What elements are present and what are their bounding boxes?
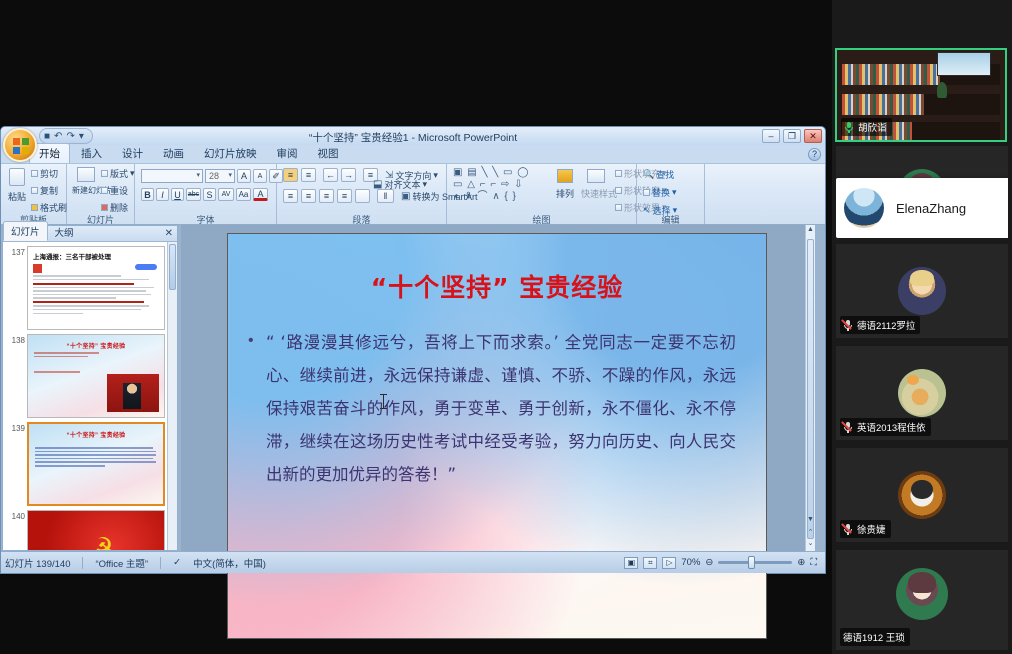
- columns-button[interactable]: ‖: [377, 189, 394, 203]
- thumbnail-title: “十个坚持” 宝贵经验: [29, 430, 163, 439]
- avatar: [898, 471, 946, 519]
- zoom-controls: ▣ ⌗ ▷ 70% ⊖ ⊕ ⛶: [624, 557, 821, 569]
- participant-tile[interactable]: 德语2112罗拉: [836, 244, 1008, 338]
- avatar: [896, 568, 948, 620]
- follow-pill: [135, 264, 157, 270]
- close-button[interactable]: ✕: [804, 129, 822, 143]
- slide-canvas-area[interactable]: “十个坚持” 宝贵经验 • “ ‘路漫漫其修远兮，吾将上下而求索。’ 全党同志一…: [181, 225, 815, 551]
- paste-button[interactable]: 粘贴: [5, 190, 29, 203]
- office-logo-icon: [13, 138, 29, 154]
- participant-name: 英语2013程佳依: [857, 420, 926, 434]
- tab-slideshow[interactable]: 幻灯片放映: [195, 144, 266, 163]
- cut-button[interactable]: 剪切: [31, 167, 67, 180]
- italic-button[interactable]: I: [156, 188, 169, 201]
- microphone-muted-icon: [843, 320, 853, 331]
- slides-outline-pane: 幻灯片 大纲 ✕ 137 上海通报：三名干部被处理: [2, 225, 178, 551]
- participant-name-badge: 英语2013程佳依: [840, 418, 931, 436]
- new-slide-icon: [77, 167, 95, 182]
- find-icon: 🔍: [643, 169, 654, 180]
- slide-counter: 幻灯片 139/140: [5, 556, 70, 570]
- tab-animations[interactable]: 动画: [154, 144, 193, 163]
- shape-effects-icon: [615, 204, 622, 211]
- reset-icon: [101, 187, 108, 194]
- layout-button[interactable]: 版式▾: [101, 167, 135, 180]
- thumbnail-number: 138: [5, 334, 25, 418]
- quick-styles-button[interactable]: 快速样式: [581, 187, 611, 200]
- copy-icon: [31, 187, 38, 194]
- thumbnail-number: 137: [5, 246, 25, 330]
- cut-icon: [31, 170, 38, 177]
- text-shadow-button[interactable]: S: [203, 188, 216, 201]
- align-right-button[interactable]: ≡: [319, 189, 334, 203]
- close-pane-icon[interactable]: ✕: [165, 228, 173, 239]
- slide-title[interactable]: “十个坚持” 宝贵经验: [228, 268, 766, 304]
- thumbnail-preview[interactable]: “十个坚持” 宝贵经验: [27, 334, 165, 418]
- participant-tile[interactable]: 徐贵婕: [836, 448, 1008, 542]
- shrink-font-button[interactable]: A: [253, 169, 267, 183]
- popup-avatar: [844, 188, 884, 228]
- slide-body-text[interactable]: “ ‘路漫漫其修远兮，吾将上下而求索。’ 全党同志一定要不忘初心、继续前进，永远…: [266, 326, 736, 491]
- arrange-button[interactable]: 排列: [551, 187, 579, 200]
- reset-button[interactable]: 重设: [101, 184, 135, 197]
- thumbnail-preview[interactable]: 上海通报：三名干部被处理: [27, 246, 165, 330]
- quick-access-toolbar: ■ ↶ ↷ ▾: [39, 128, 93, 144]
- new-slide-button[interactable]: 新建幻灯片: [72, 186, 100, 195]
- ribbon-group-paragraph: ≡ ≡ ← → ≡ ⇲文字方向▾ ≡ ≡ ≡ ≡ ‖ ▣转换为 SmartArt…: [277, 164, 447, 226]
- ribbon-group-slides: 新建幻灯片 版式▾ 重设 删除 幻灯片: [67, 164, 135, 226]
- participant-name-badge: 胡欣诣: [841, 118, 892, 136]
- next-slide-icon[interactable]: ⌄: [806, 539, 815, 550]
- participant-name: 德语2112罗拉: [857, 318, 915, 332]
- participant-tile[interactable]: 德语1912 王琐: [836, 550, 1008, 650]
- participant-rail: 胡欣诣 ElenaZhang 德语2112罗拉 英语2013程佳依: [832, 0, 1012, 654]
- numbering-button[interactable]: ≡: [301, 168, 316, 182]
- strikethrough-button[interactable]: abc: [186, 188, 201, 201]
- thumbnail-preview[interactable]: “十个坚持” 宝贵经验: [27, 422, 165, 506]
- tab-review[interactable]: 审阅: [268, 144, 307, 163]
- ribbon-tabs: 开始 插入 设计 动画 幻灯片放映 审阅 视图: [29, 146, 348, 163]
- thumbnail-list[interactable]: 137 上海通报：三名干部被处理: [3, 242, 167, 550]
- thumbnail-scrollbar[interactable]: [167, 242, 177, 550]
- work-area: 幻灯片 大纲 ✕ 137 上海通报：三名干部被处理: [1, 225, 825, 551]
- align-center-button[interactable]: ≡: [301, 189, 316, 203]
- ribbon-group-editing: 🔍查找 替换▾ ↖选择▾ 编辑: [637, 164, 705, 226]
- text-cursor: [383, 394, 384, 409]
- align-left-button[interactable]: ≡: [283, 189, 298, 203]
- customize-qat-icon[interactable]: ▾: [79, 131, 84, 142]
- distribute-button[interactable]: [355, 189, 370, 203]
- status-bar: 幻灯片 139/140 “Office 主题” ✓ 中文(简体，中国) ▣ ⌗ …: [1, 551, 825, 573]
- thumbnail-number: 140: [5, 510, 25, 550]
- title-bar: “十个坚持” 宝贵经验1 - Microsoft PowerPoint – ❐ …: [1, 127, 825, 145]
- avatar: [898, 267, 946, 315]
- participant-name-badge: 德语2112罗拉: [840, 316, 920, 334]
- thumbnail-item[interactable]: 137 上海通报：三名干部被处理: [3, 242, 167, 330]
- shape-fill-icon: [615, 170, 622, 177]
- help-icon[interactable]: ?: [808, 148, 821, 161]
- copy-button[interactable]: 复制: [31, 184, 67, 197]
- thumbnail-headline: 上海通报：三名干部被处理: [33, 251, 159, 261]
- font-size-value: 28: [206, 171, 219, 181]
- thumbnail-number: 139: [5, 422, 25, 506]
- zoom-level[interactable]: 70%: [681, 557, 700, 568]
- powerpoint-window: “十个坚持” 宝贵经验1 - Microsoft PowerPoint – ❐ …: [0, 126, 826, 574]
- participant-name: 胡欣诣: [858, 120, 887, 134]
- slide-surface[interactable]: “十个坚持” 宝贵经验 • “ ‘路漫漫其修远兮，吾将上下而求索。’ 全党同志一…: [227, 233, 767, 639]
- fit-to-window-button[interactable]: ⛶: [810, 557, 817, 568]
- arrange-icon: [557, 169, 573, 183]
- undo-icon[interactable]: ↶: [54, 131, 62, 142]
- popup-participant-name: ElenaZhang: [896, 201, 966, 216]
- participant-name-badge: 徐贵婕: [840, 520, 891, 538]
- delete-icon: [101, 204, 108, 211]
- pane-tab-outline[interactable]: 大纲: [48, 223, 81, 241]
- shape-gallery[interactable]: ▣ ▤ ╲ ╲ ▭ ◯ ▭ △ ⌐ ⌐ ⇨ ⇩ ◖ ⚘ ⌒ ∧ { }: [453, 167, 545, 203]
- zoom-out-button[interactable]: ⊖: [705, 557, 713, 568]
- replace-icon: [643, 189, 650, 196]
- paintbrush-icon: [31, 204, 38, 211]
- replace-button[interactable]: 替换▾: [643, 186, 677, 199]
- layout-icon: [101, 170, 108, 177]
- slide-vertical-scrollbar[interactable]: ▲ ▼ ⌃ ⌄: [805, 225, 815, 551]
- font-name-value: [142, 171, 144, 181]
- participant-tile[interactable]: 胡欣诣: [835, 48, 1007, 142]
- scroll-up-icon[interactable]: ▲: [806, 226, 815, 237]
- tab-design[interactable]: 设计: [113, 144, 152, 163]
- redo-icon[interactable]: ↷: [66, 131, 74, 142]
- tab-view[interactable]: 视图: [309, 144, 348, 163]
- justify-button[interactable]: ≡: [337, 189, 352, 203]
- view-slideshow-button[interactable]: ▷: [662, 557, 676, 569]
- thumbnail-item[interactable]: 138 “十个坚持” 宝贵经验: [3, 330, 167, 418]
- align-text-button[interactable]: ⬓对齐文本▾: [373, 178, 427, 191]
- character-spacing-button[interactable]: AV: [218, 188, 234, 201]
- thumbnail-title: “十个坚持” 宝贵经验: [28, 341, 164, 350]
- zoom-slider[interactable]: [718, 561, 792, 564]
- align-text-icon: ⬓: [373, 179, 382, 190]
- ribbon-group-font: ▾ 28 ▾ A A ✐ B I U abc S: [135, 164, 277, 226]
- previous-slide-icon[interactable]: ⌃: [806, 528, 815, 539]
- microphone-muted-icon: [843, 524, 853, 535]
- quick-styles-icon: [587, 169, 605, 183]
- window-title: “十个坚持” 宝贵经验1 - Microsoft PowerPoint: [309, 130, 517, 145]
- party-emblem-icon: ☭: [91, 534, 114, 550]
- font-color-button[interactable]: A: [253, 188, 268, 201]
- restore-button[interactable]: ❐: [783, 129, 801, 143]
- microphone-muted-icon: [843, 422, 853, 433]
- bold-button[interactable]: B: [141, 188, 154, 201]
- underline-button[interactable]: U: [171, 188, 184, 201]
- participant-name: 德语1912 王琐: [843, 630, 905, 644]
- scroll-down-icon[interactable]: ▼: [806, 516, 815, 527]
- ribbon-group-clipboard: 粘贴 剪切 复制 格式刷 剪贴板: [1, 164, 67, 226]
- desktop-background: “十个坚持” 宝贵经验1 - Microsoft PowerPoint – ❐ …: [0, 0, 1012, 654]
- language-indicator[interactable]: 中文(简体，中国): [193, 556, 266, 570]
- office-button[interactable]: [3, 128, 37, 162]
- increase-indent-button[interactable]: →: [341, 168, 356, 182]
- bullet-marker: •: [248, 332, 254, 350]
- change-case-button[interactable]: Aa: [236, 188, 251, 201]
- decrease-indent-button[interactable]: ←: [323, 168, 338, 182]
- minimize-button[interactable]: –: [762, 129, 780, 143]
- shape-outline-icon: [615, 187, 622, 194]
- thumbnail-photo: [107, 374, 159, 412]
- news-logo-icon: [33, 264, 42, 273]
- theme-name[interactable]: “Office 主题”: [95, 556, 148, 570]
- participant-tile[interactable]: ElenaZhang: [836, 146, 1008, 240]
- pane-tab-slides[interactable]: 幻灯片: [3, 221, 48, 241]
- ribbon-group-drawing: ▣ ▤ ╲ ╲ ▭ ◯ ▭ △ ⌐ ⌐ ⇨ ⇩ ◖ ⚘ ⌒ ∧ { } 排列 快…: [447, 164, 637, 226]
- thumbnail-preview[interactable]: ☭: [27, 510, 165, 550]
- save-icon[interactable]: ■: [44, 131, 50, 142]
- ribbon: 粘贴 剪切 复制 格式刷 剪贴板 新建幻灯片 版式▾ 重设 删除: [1, 163, 825, 225]
- font-name-combo[interactable]: ▾: [141, 169, 203, 183]
- font-size-combo[interactable]: 28 ▾: [205, 169, 235, 183]
- thumbnail-item-selected[interactable]: 139 “十个坚持” 宝贵经验: [3, 418, 167, 506]
- participant-tile[interactable]: 英语2013程佳依: [836, 346, 1008, 440]
- bullets-button[interactable]: ≡: [283, 168, 298, 182]
- thumbnail-item[interactable]: 140 ☭: [3, 506, 167, 550]
- grow-font-button[interactable]: A: [237, 169, 251, 183]
- pane-tabs: 幻灯片 大纲 ✕: [3, 226, 177, 242]
- avatar: [898, 369, 946, 417]
- participant-name: 徐贵婕: [857, 522, 886, 536]
- view-slide-sorter-button[interactable]: ⌗: [643, 557, 657, 569]
- window-controls: – ❐ ✕: [762, 129, 822, 143]
- spellcheck-icon[interactable]: ✓: [173, 557, 181, 568]
- microphone-icon: [844, 122, 854, 133]
- find-button[interactable]: 🔍查找: [643, 168, 677, 181]
- tab-insert[interactable]: 插入: [72, 144, 111, 163]
- zoom-in-button[interactable]: ⊕: [797, 557, 805, 568]
- participant-popup[interactable]: ElenaZhang: [836, 178, 1008, 238]
- view-normal-button[interactable]: ▣: [624, 557, 638, 569]
- participant-name-badge: 德语1912 王琐: [840, 628, 910, 646]
- smartart-icon: ▣: [401, 191, 410, 202]
